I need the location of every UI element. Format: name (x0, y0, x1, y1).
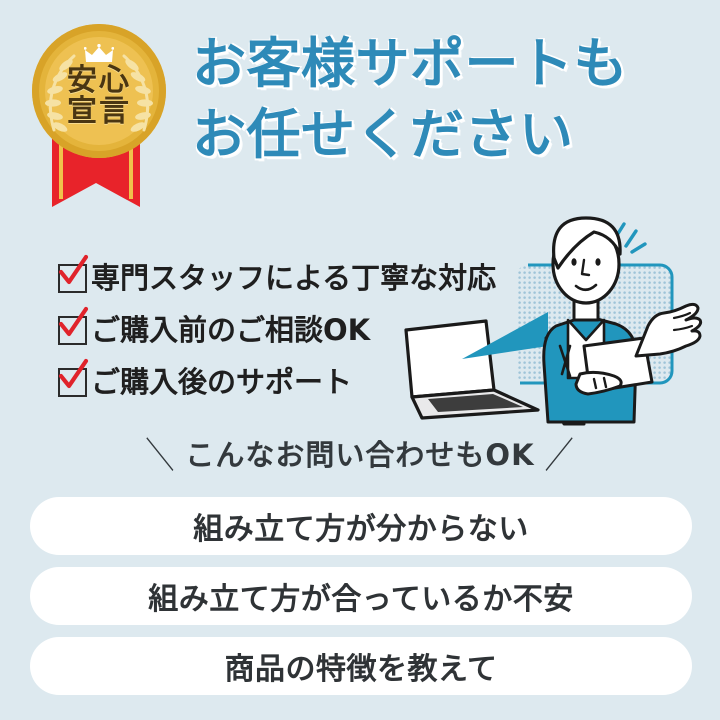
subcaption-text: こんなお問い合わせもOK (185, 438, 534, 472)
checklist-item-label: ご購入後のサポート (91, 368, 352, 397)
checkbox-checked-icon (58, 264, 87, 293)
support-banner: 安心 宣言 お客様サポートも お任せください 専門スタッフによる丁寧な対応 (0, 0, 720, 720)
headline-line-2: お任せください (192, 99, 712, 170)
inquiry-examples-list: 組み立て方が分からない 組み立て方が合っているか不安 商品の特徴を教えて (30, 497, 692, 707)
badge-text: 安心 宣言 (32, 66, 166, 127)
right-slash-icon: ／ (545, 427, 575, 480)
inquiry-pill[interactable]: 組み立て方が合っているか不安 (30, 567, 692, 625)
inquiry-pill-label: 組み立て方が分からない (193, 504, 529, 548)
medal-disc: 安心 宣言 (32, 24, 166, 158)
checkbox-checked-icon (58, 316, 87, 345)
subcaption: ＼こんなお問い合わせもOK／ (0, 432, 720, 474)
assurance-badge: 安心 宣言 (22, 14, 172, 214)
inquiry-pill[interactable]: 組み立て方が分からない (30, 497, 692, 555)
badge-text-line2: 宣言 (32, 97, 166, 128)
support-illustration (398, 196, 720, 428)
inquiry-pill-label: 組み立て方が合っているか不安 (148, 574, 574, 618)
inquiry-pill[interactable]: 商品の特徴を教えて (30, 637, 692, 695)
left-slash-icon: ＼ (145, 427, 175, 480)
inquiry-pill-label: 商品の特徴を教えて (225, 644, 498, 688)
headline-line-1: お客様サポートも (192, 28, 712, 99)
headline: お客様サポートも お任せください (192, 28, 712, 171)
badge-text-line1: 安心 (32, 66, 166, 97)
checkbox-checked-icon (58, 368, 87, 397)
checklist-item-label: ご購入前のご相談OK (91, 316, 370, 345)
crown-icon (84, 44, 114, 64)
